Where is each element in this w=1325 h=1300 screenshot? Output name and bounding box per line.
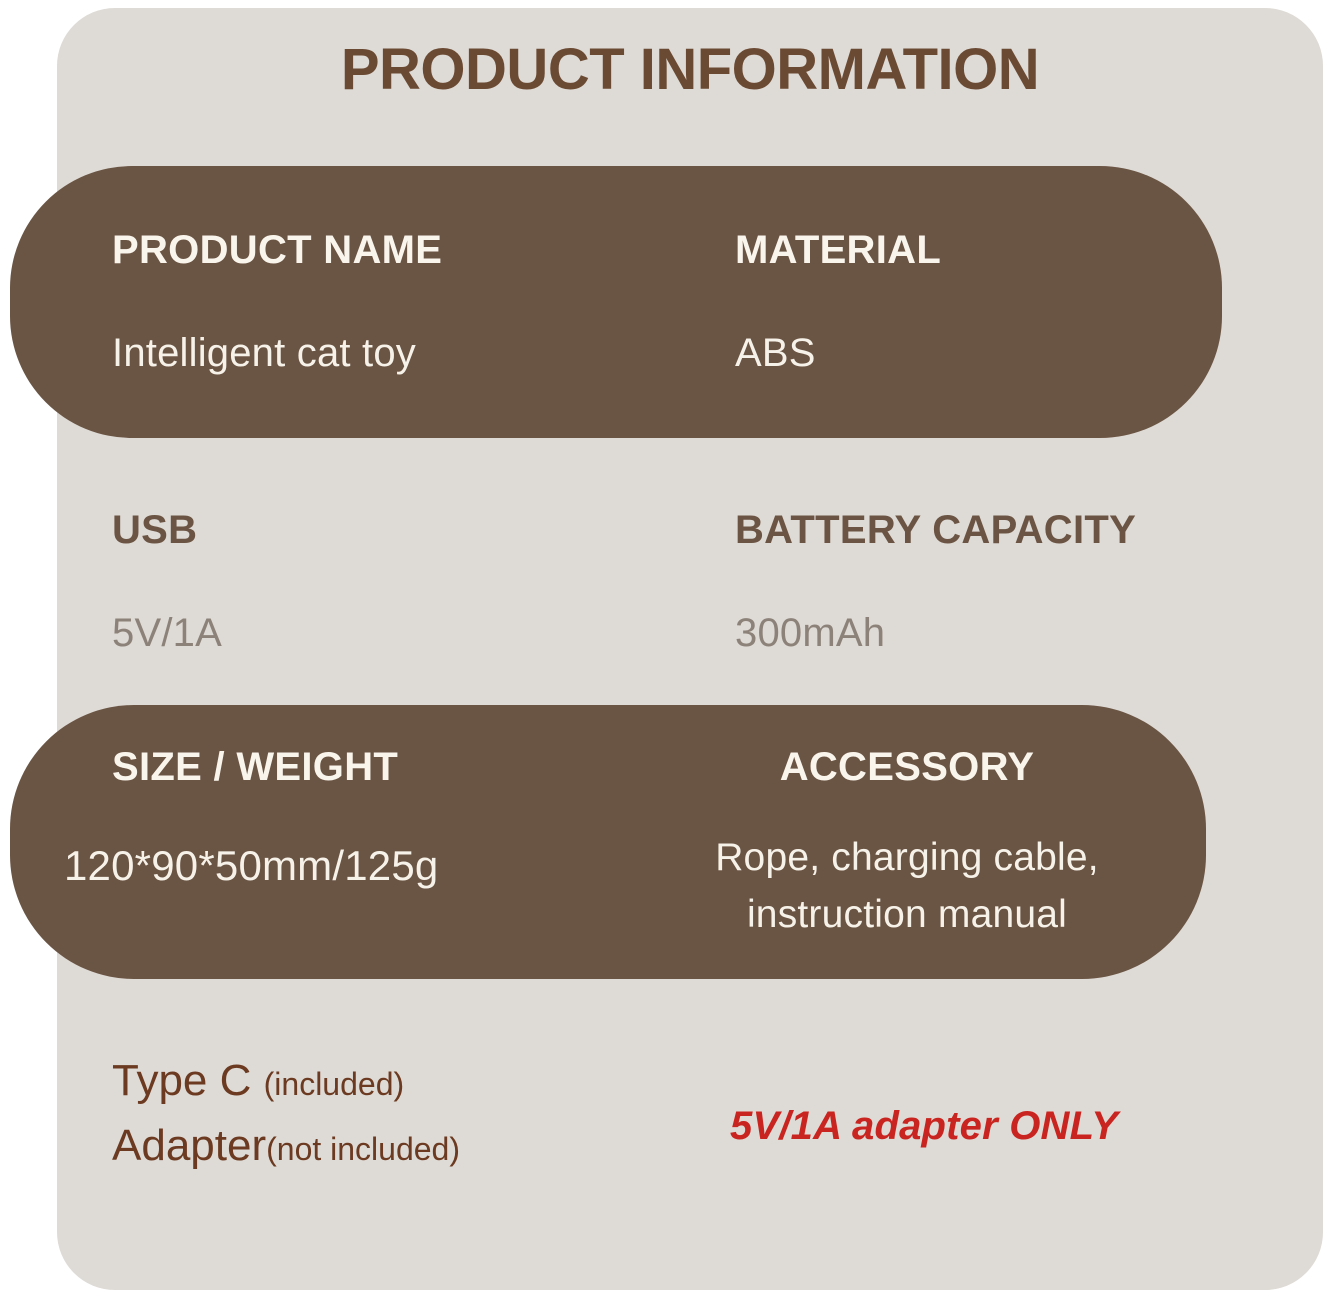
spec-value-size-weight: 120*90*50mm/125g — [64, 842, 438, 890]
spec-label-product-name: PRODUCT NAME — [112, 228, 442, 273]
spec-label-size-weight: SIZE / WEIGHT — [112, 745, 438, 790]
spec-value-usb: 5V/1A — [112, 611, 222, 656]
page-title: PRODUCT INFORMATION — [57, 36, 1323, 103]
spec-cell-accessory: ACCESSORY Rope, charging cable, instruct… — [672, 745, 1142, 943]
spec-cell-product-name: PRODUCT NAME Intelligent cat toy — [112, 228, 442, 376]
spec-value-battery-capacity: 300mAh — [735, 611, 1136, 656]
spec-row-size-weight: SIZE / WEIGHT 120*90*50mm/125g ACCESSORY… — [0, 745, 1325, 960]
adapter-not-included-text: (not included) — [266, 1131, 460, 1167]
adapter-warning-text: 5V/1A adapter ONLY — [730, 1104, 1118, 1149]
adapter-text: Adapter — [112, 1121, 266, 1170]
product-information-infographic: PRODUCT INFORMATION PRODUCT NAME Intelli… — [0, 0, 1325, 1300]
spec-label-battery-capacity: BATTERY CAPACITY — [735, 508, 1136, 553]
adapter-note: Type C (included) Adapter(not included) — [112, 1048, 460, 1178]
spec-value-product-name: Intelligent cat toy — [112, 331, 442, 376]
type-c-text: Type C — [112, 1056, 264, 1105]
spec-label-material: MATERIAL — [735, 228, 941, 273]
adapter-note-line-adapter: Adapter(not included) — [112, 1113, 460, 1178]
spec-cell-battery-capacity: BATTERY CAPACITY 300mAh — [735, 508, 1136, 656]
adapter-note-row: Type C (included) Adapter(not included) … — [0, 1048, 1325, 1228]
spec-row-product-name: PRODUCT NAME Intelligent cat toy MATERIA… — [0, 228, 1325, 408]
spec-cell-material: MATERIAL ABS — [735, 228, 941, 376]
spec-row-usb: USB 5V/1A BATTERY CAPACITY 300mAh — [0, 508, 1325, 688]
spec-value-material: ABS — [735, 331, 941, 376]
spec-label-accessory: ACCESSORY — [672, 745, 1142, 790]
spec-value-accessory: Rope, charging cable, instruction manual — [672, 830, 1142, 943]
spec-cell-size-weight: SIZE / WEIGHT 120*90*50mm/125g — [112, 745, 438, 890]
spec-label-usb: USB — [112, 508, 222, 553]
spec-cell-usb: USB 5V/1A — [112, 508, 222, 656]
type-c-included-text: (included) — [264, 1066, 405, 1102]
adapter-note-line-type-c: Type C (included) — [112, 1048, 460, 1113]
